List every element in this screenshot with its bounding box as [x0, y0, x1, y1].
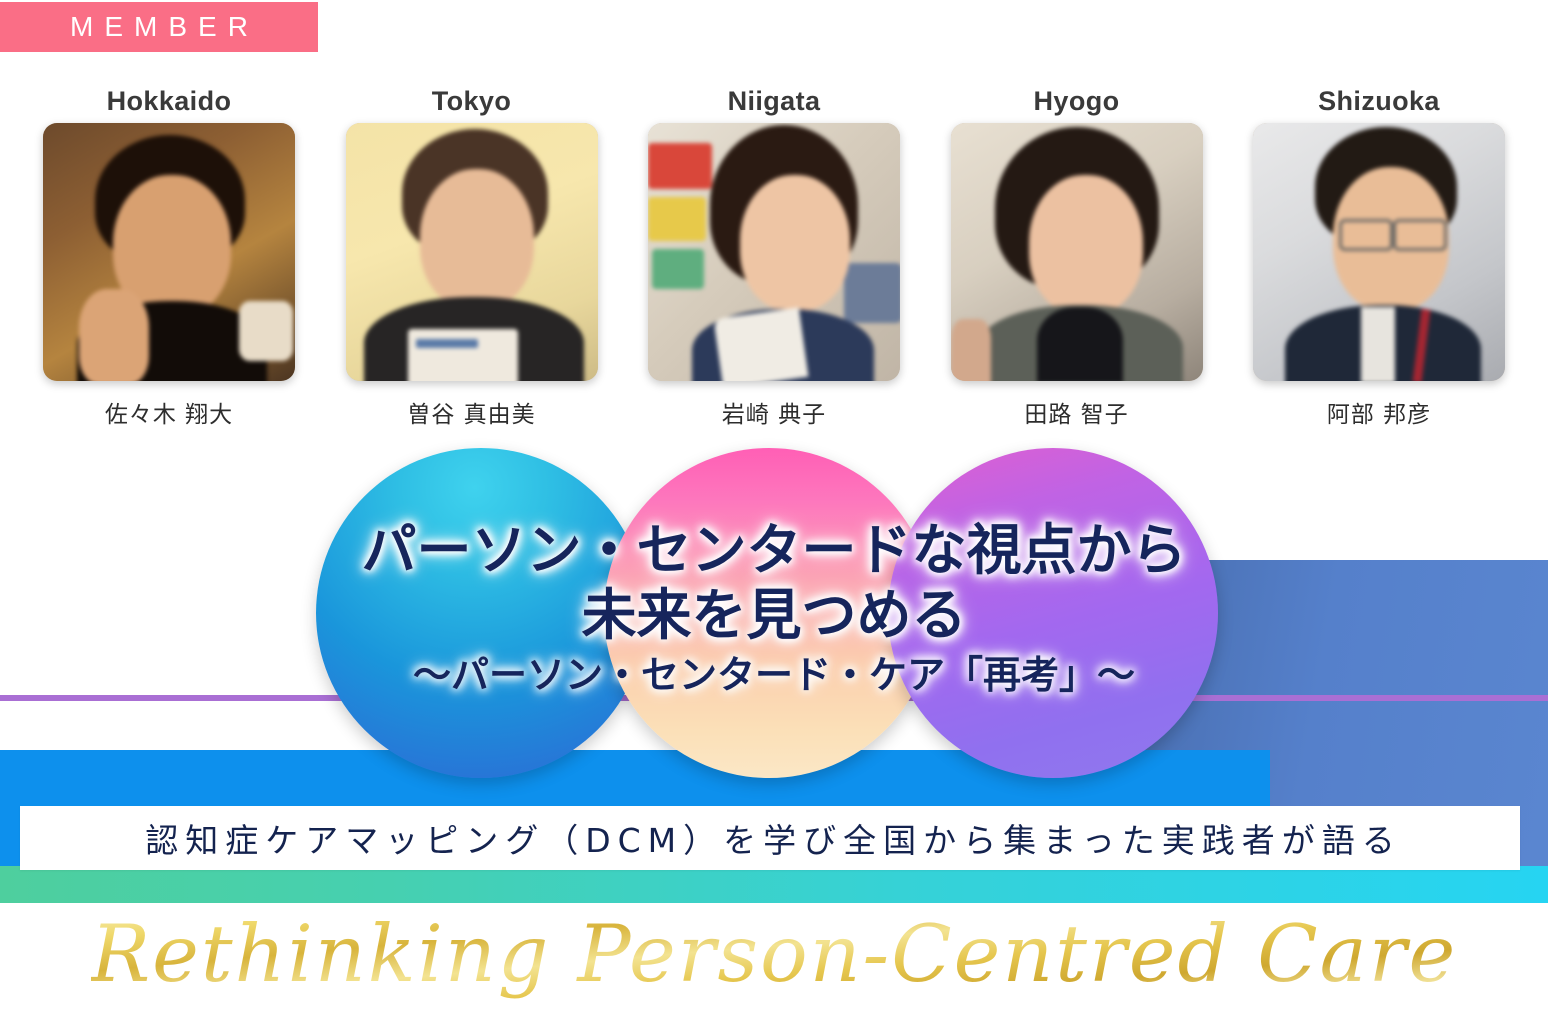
gold-script-text: Rethinking Person-Centred Care	[91, 908, 1458, 1000]
member-name: 曽谷 真由美	[407, 395, 535, 429]
member-card-hyogo: Hyogo 田路 智子	[950, 88, 1204, 438]
member-region-label: Hokkaido	[107, 88, 232, 115]
member-region-label: Niigata	[728, 88, 821, 115]
member-card-shizuoka: Shizuoka 阿部 邦彦	[1252, 88, 1506, 438]
member-photo	[43, 123, 295, 381]
member-name: 阿部 邦彦	[1327, 395, 1431, 429]
member-photo	[951, 123, 1203, 381]
member-card-niigata: Niigata 岩崎 典子	[647, 88, 901, 438]
member-card-hokkaido: Hokkaido 佐々木 翔大	[42, 88, 296, 438]
title-subtitle: ～パーソン・センタード・ケア「再考」～	[0, 652, 1548, 698]
member-badge: MEMBER	[0, 2, 318, 52]
main-title: パーソン・センタードな視点から 未来を見つめる ～パーソン・センタード・ケア「再…	[0, 520, 1548, 698]
caption-text: 認知症ケアマッピング（DCM）を学び全国から集まった実践者が語る	[138, 814, 1402, 862]
gold-script-title: Rethinking Person-Centred Care	[0, 908, 1548, 1000]
poster-canvas: MEMBER Hokkaido 佐々木 翔大 Tokyo	[0, 0, 1548, 1030]
member-name: 佐々木 翔大	[105, 395, 233, 429]
member-photo	[648, 123, 900, 381]
member-region-label: Hyogo	[1034, 88, 1120, 115]
background-teal-strip	[0, 866, 1548, 908]
title-line-2: 未来を見つめる	[0, 583, 1548, 648]
member-region-label: Shizuoka	[1318, 88, 1440, 115]
member-name: 田路 智子	[1024, 395, 1128, 429]
member-photo	[1253, 123, 1505, 381]
title-line-1: パーソン・センタードな視点から	[0, 520, 1548, 579]
member-list: Hokkaido 佐々木 翔大 Tokyo	[0, 88, 1548, 438]
caption-banner: 認知症ケアマッピング（DCM）を学び全国から集まった実践者が語る	[20, 806, 1520, 870]
member-card-tokyo: Tokyo 曽谷 真由美	[345, 88, 599, 438]
member-badge-label: MEMBER	[59, 11, 259, 43]
member-photo	[346, 123, 598, 381]
member-name: 岩崎 典子	[722, 395, 826, 429]
member-region-label: Tokyo	[432, 88, 512, 115]
